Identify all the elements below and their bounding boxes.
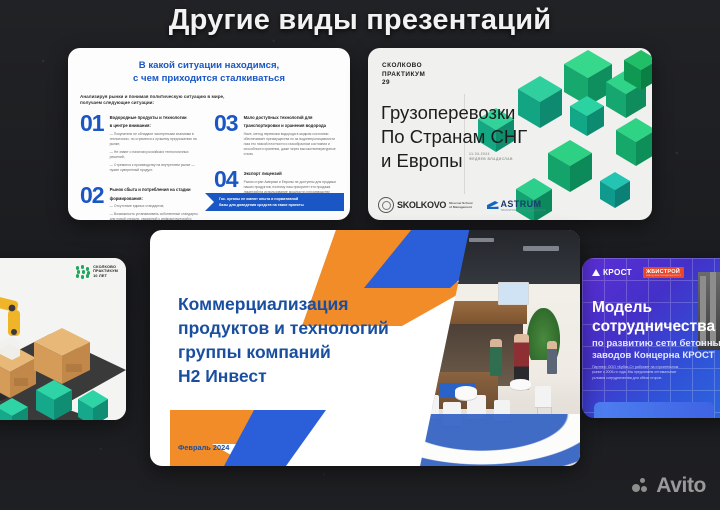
astrum-wordmark: ASTRUM bbox=[501, 199, 546, 209]
situation-item-number: 03 bbox=[214, 113, 238, 160]
slide-situation-title: В какой ситуации находимся, с чем приход… bbox=[68, 48, 350, 85]
astrum-logo: ASTRUM TRANSPORTATION & LOGISTICS bbox=[487, 199, 546, 212]
slide-situation-title-line1: В какой ситуации находимся, bbox=[90, 59, 328, 72]
krost-title-line2: сотрудничества bbox=[592, 317, 715, 336]
krost-subtitle-line2: заводов Концерна КРОСТ bbox=[592, 350, 720, 362]
booth-person bbox=[490, 339, 502, 377]
robot-conveyor-graphic bbox=[0, 258, 126, 420]
skolkovo-kicker-line2: ПРАКТИКУМ bbox=[382, 71, 425, 80]
skolkovo-kicker: СКОЛКОВО ПРАКТИКУМ 29 bbox=[382, 62, 425, 88]
jbistroy-sub: ЗАВОД ЖБИ КОНЦЕРНА КРОСТ bbox=[646, 275, 681, 277]
jbistroy-wordmark: ЖБИСТРОЙ bbox=[646, 269, 681, 275]
situation-item-paragraph: — Покупатели не обладают экспертными зна… bbox=[110, 132, 204, 147]
situation-item-paragraph: — Не знают о наличии российских технолог… bbox=[110, 150, 204, 160]
situation-item-paragraph: — Возможность устанавливать собственные … bbox=[110, 212, 204, 220]
astrum-swoosh-icon bbox=[487, 201, 499, 209]
skolkovo-logo-sub: Moscow School of Management bbox=[449, 201, 472, 209]
slide-card-krost[interactable]: КРОСТ ЖБИСТРОЙ ЗАВОД ЖБИ КОНЦЕРНА КРОСТ … bbox=[582, 258, 720, 418]
booth-table bbox=[510, 379, 531, 391]
slide-card-robot[interactable]: СКОЛКОВО ПРАКТИКУМ 10 ЛЕТ bbox=[0, 258, 126, 420]
h2invest-title: Коммерциализация продуктов и технологий … bbox=[178, 292, 389, 388]
h2invest-title-line3: группы компаний bbox=[178, 340, 389, 364]
slide-situation-column-left: 01 Водородные продукты и технологии в це… bbox=[80, 113, 204, 220]
skolkovo-meta: 11.03.2024 ФЕДЯЕВ ВЛАДИСЛАВ bbox=[469, 152, 513, 163]
robot-illustration bbox=[0, 258, 126, 420]
avito-dots-icon bbox=[632, 477, 651, 496]
slide-situation-lead: Анализируя рынки и понимая политическую … bbox=[68, 85, 350, 107]
slide-situation-title-line2: с чем приходится сталкиваться bbox=[90, 72, 328, 85]
krost-bottom-panel bbox=[594, 402, 714, 418]
page-title: Другие виды презентаций bbox=[0, 4, 720, 37]
booth-chair bbox=[535, 386, 551, 407]
krost-logo: КРОСТ bbox=[592, 268, 632, 277]
situation-item-number: 01 bbox=[80, 113, 104, 176]
situation-item-heading-line1: Экспорт лицензий bbox=[244, 171, 338, 177]
skolkovo-title-line2: По Странам СНГ bbox=[381, 125, 527, 149]
skolkovo-kicker-line1: СКОЛКОВО bbox=[382, 62, 425, 71]
h2invest-title-line2: продуктов и технологий bbox=[178, 316, 389, 340]
screenshot-stage: Другие виды презентаций В какой ситуации… bbox=[0, 0, 720, 510]
krost-triangle-icon bbox=[592, 269, 600, 276]
situation-callout-ribbon: Гос. органы не имеют опыта и нормативной… bbox=[205, 193, 344, 211]
skolkovo-meta-author: ФЕДЯЕВ ВЛАДИСЛАВ bbox=[469, 157, 513, 162]
situation-item-body: Мало доступных технологий для транспорти… bbox=[244, 113, 338, 160]
avito-watermark: Avito bbox=[632, 474, 706, 498]
situation-item-paragraph: — Отсутствие единых стандартов; bbox=[110, 204, 204, 209]
slide-card-h2invest[interactable]: Коммерциализация продуктов и технологий … bbox=[150, 230, 580, 466]
situation-item-paragraph: Have, метод перевозки водорода в жидком … bbox=[244, 132, 338, 157]
situation-item-heading-line2: в центре внимания: bbox=[110, 123, 204, 129]
situation-item-heading-line2: транспортировки и хранения водорода bbox=[244, 123, 338, 129]
situation-item-heading-line1: Рынок сбыта и потребления на стадии bbox=[110, 187, 204, 193]
skolkovo-10let-text: СКОЛКОВО ПРАКТИКУМ 10 ЛЕТ bbox=[93, 265, 118, 278]
skolkovo-dots-icon bbox=[76, 265, 91, 278]
skolkovo-wordmark: SKOLKOVO bbox=[397, 200, 446, 210]
situation-item-body: Рынок сбыта и потребления на стадии форм… bbox=[110, 185, 204, 220]
krost-title: Модель сотрудничества bbox=[592, 298, 715, 336]
situation-item-paragraph: — Стремятся к производству на внутреннем… bbox=[110, 163, 204, 173]
krost-note: Партнер: ООО «Кубис-С» работает на строи… bbox=[592, 365, 720, 381]
situation-item: 02 Рынок сбыта и потребления на стадии ф… bbox=[80, 185, 204, 220]
skolkovo-mark-icon bbox=[378, 197, 394, 213]
booth-person bbox=[547, 341, 557, 374]
situation-item: 03 Мало доступных технологий для транспо… bbox=[214, 113, 338, 160]
slide-card-situation[interactable]: В какой ситуации находимся, с чем приход… bbox=[68, 48, 350, 220]
situation-item-body: Водородные продукты и технологии в центр… bbox=[110, 113, 204, 176]
situation-item-heading-line1: Водородные продукты и технологии bbox=[110, 115, 204, 121]
krost-subtitle: по развитию сети бетонных заводов Концер… bbox=[592, 338, 720, 363]
situation-item-heading-line2: формирования: bbox=[110, 196, 204, 202]
skolkovo-title-line1: Грузоперевозки bbox=[381, 101, 527, 125]
astrum-logo-sub: TRANSPORTATION & LOGISTICS bbox=[501, 209, 546, 212]
jbistroy-logo: ЖБИСТРОЙ ЗАВОД ЖБИ КОНЦЕРНА КРОСТ bbox=[643, 267, 684, 278]
krost-subtitle-line1: по развитию сети бетонных bbox=[592, 338, 720, 350]
krost-title-line1: Модель bbox=[592, 298, 715, 317]
ribbon-line2: базы для доведения средств на такие прое… bbox=[219, 202, 304, 208]
astrum-text: ASTRUM TRANSPORTATION & LOGISTICS bbox=[501, 199, 546, 212]
skolkovo-logo-sub-line2: of Management bbox=[449, 205, 472, 209]
skolkovo-logo: SKOLKOVO Moscow School of Management bbox=[378, 197, 473, 213]
avito-wordmark: Avito bbox=[656, 474, 706, 498]
skolkovo-kicker-line3: 29 bbox=[382, 79, 425, 88]
booth-table bbox=[455, 386, 478, 400]
krost-note-line3: условия сотрудничества для обеих сторон. bbox=[592, 376, 720, 381]
situation-item: 01 Водородные продукты и технологии в це… bbox=[80, 113, 204, 176]
skolkovo-10let-logo: СКОЛКОВО ПРАКТИКУМ 10 ЛЕТ bbox=[76, 265, 118, 278]
slide-card-skolkovo[interactable]: СКОЛКОВО ПРАКТИКУМ 29 Грузоперевозки По … bbox=[368, 48, 652, 220]
skolkovo-logo-row: SKOLKOVO Moscow School of Management AST… bbox=[378, 197, 546, 213]
situation-item-heading-line1: Мало доступных технологий для bbox=[244, 115, 338, 121]
skolkovo-10let-line3: 10 ЛЕТ bbox=[93, 274, 118, 278]
booth-screen bbox=[498, 282, 529, 305]
h2invest-date: Февраль 2024 bbox=[178, 443, 229, 452]
h2invest-title-line4: H2 Инвест bbox=[178, 364, 389, 388]
krost-logo-row: КРОСТ ЖБИСТРОЙ ЗАВОД ЖБИ КОНЦЕРНА КРОСТ bbox=[592, 267, 684, 278]
krost-wordmark: КРОСТ bbox=[603, 268, 632, 277]
situation-item-number: 02 bbox=[80, 185, 104, 220]
h2invest-title-line1: Коммерциализация bbox=[178, 292, 389, 316]
